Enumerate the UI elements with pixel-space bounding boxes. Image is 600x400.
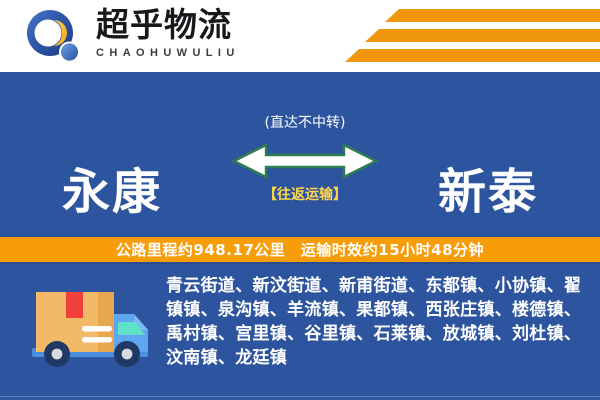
brand-name-cn: 超乎物流 bbox=[96, 6, 316, 44]
double-headed-arrow-icon bbox=[230, 140, 380, 182]
header-stripes-decoration bbox=[340, 0, 600, 72]
coverage-line: 青云街道、新汶街道、新甫街道、东都镇、小协镇、翟 bbox=[166, 274, 586, 298]
coverage-area-list: 青云街道、新汶街道、新甫街道、东都镇、小协镇、翟 镇镇、泉沟镇、羊流镇、果都镇、… bbox=[166, 274, 586, 370]
brand-block: 超乎物流 CHAOHUWULIU bbox=[96, 6, 316, 60]
route-banner: 永康 (直达不中转) 【往返运输】 新泰 bbox=[0, 72, 600, 236]
bottom-divider bbox=[0, 396, 600, 400]
destination-city: 新泰 bbox=[438, 164, 538, 220]
coverage-line: 汶南镇、龙廷镇 bbox=[166, 346, 586, 370]
route-info-bar: 公路里程约948.17公里 运输时效约15小时48分钟 bbox=[0, 236, 600, 264]
poster-header: 超乎物流 CHAOHUWULIU bbox=[0, 0, 600, 72]
direct-route-note: (直达不中转) bbox=[236, 114, 374, 132]
logistics-route-poster: 超乎物流 CHAOHUWULIU 永康 (直达不中转) 【往返运输】 新泰 公路… bbox=[0, 0, 600, 400]
origin-city: 永康 bbox=[62, 164, 162, 220]
coverage-section: 青云街道、新汶街道、新甫街道、东都镇、小协镇、翟 镇镇、泉沟镇、羊流镇、果都镇、… bbox=[0, 266, 600, 400]
delivery-truck-icon bbox=[26, 280, 156, 376]
round-trip-note: 【往返运输】 bbox=[236, 186, 374, 204]
brand-name-pinyin: CHAOHUWULIU bbox=[96, 46, 316, 60]
circular-q-logo-icon bbox=[24, 8, 84, 66]
stripe-3 bbox=[345, 49, 600, 62]
stripe-1 bbox=[385, 9, 600, 22]
route-arrow-group: (直达不中转) 【往返运输】 bbox=[236, 114, 374, 224]
stripe-2 bbox=[365, 29, 600, 42]
coverage-line: 镇镇、泉沟镇、羊流镇、果都镇、西张庄镇、楼德镇、 bbox=[166, 298, 586, 322]
route-info-text: 公路里程约948.17公里 运输时效约15小时48分钟 bbox=[116, 239, 484, 260]
coverage-line: 禹村镇、宫里镇、谷里镇、石莱镇、放城镇、刘杜镇、 bbox=[166, 322, 586, 346]
